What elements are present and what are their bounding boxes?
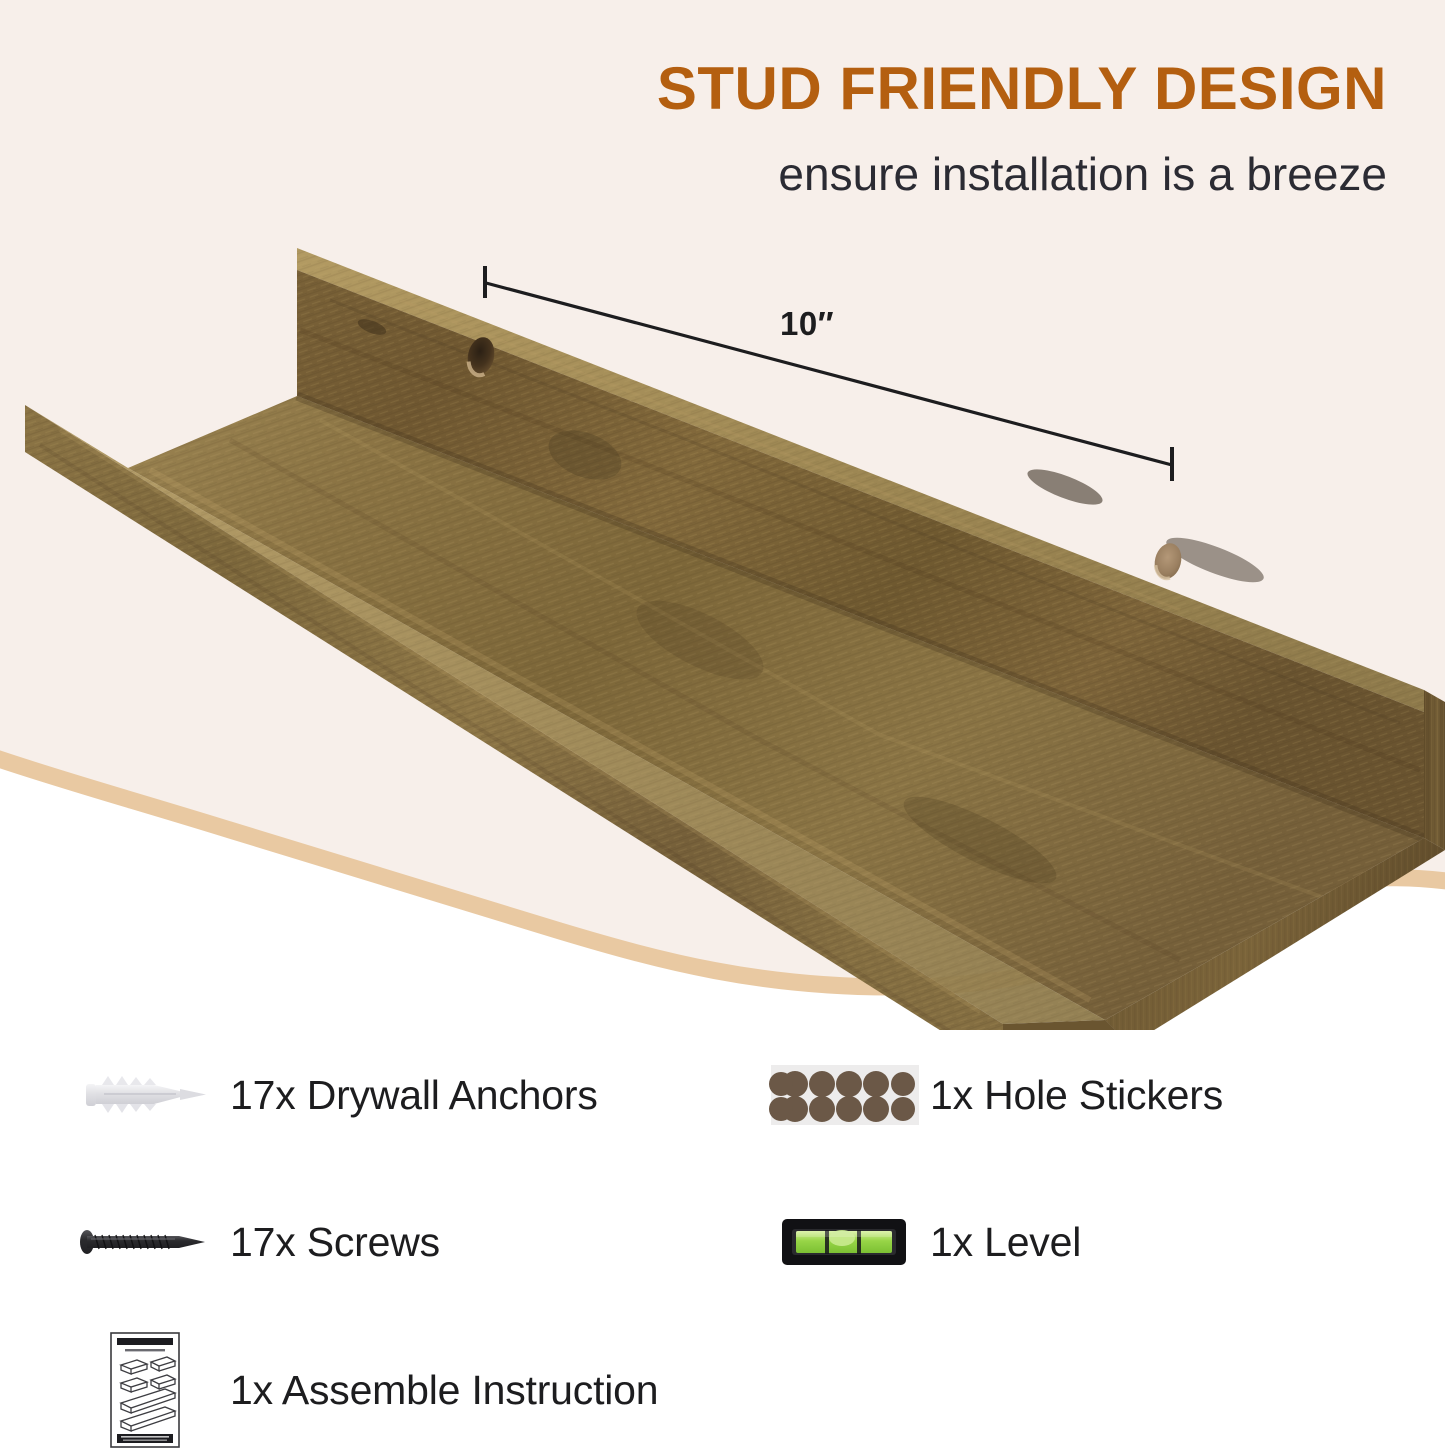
list-item-assemble-instruction: 1x Assemble Instruction bbox=[60, 1340, 658, 1440]
list-item-label: 17x Screws bbox=[230, 1219, 440, 1266]
list-item-drywall-anchors: 17x Drywall Anchors bbox=[60, 1045, 598, 1145]
list-item-label: 1x Hole Stickers bbox=[930, 1072, 1223, 1119]
list-item-label: 1x Assemble Instruction bbox=[230, 1367, 658, 1414]
page-subtitle: ensure installation is a breeze bbox=[0, 148, 1445, 201]
drywall-anchor-icon bbox=[60, 1045, 230, 1145]
list-item-hole-stickers: 1x Hole Stickers bbox=[760, 1045, 1223, 1145]
hole-stickers-icon bbox=[760, 1045, 930, 1145]
list-item-label: 1x Level bbox=[930, 1219, 1081, 1266]
list-item-screws: 17x Screws bbox=[60, 1192, 440, 1292]
list-item-level: 1x Level bbox=[760, 1192, 1081, 1292]
instruction-manual-icon bbox=[60, 1340, 230, 1440]
dimension-label: 10″ bbox=[780, 305, 834, 343]
included-parts-list: 17x Drywall Anchors bbox=[0, 1020, 1445, 1423]
page-title: STUD FRIENDLY DESIGN bbox=[0, 57, 1445, 120]
list-item-label: 17x Drywall Anchors bbox=[230, 1072, 598, 1119]
screw-icon bbox=[60, 1192, 230, 1292]
bubble-level-icon bbox=[760, 1192, 930, 1292]
